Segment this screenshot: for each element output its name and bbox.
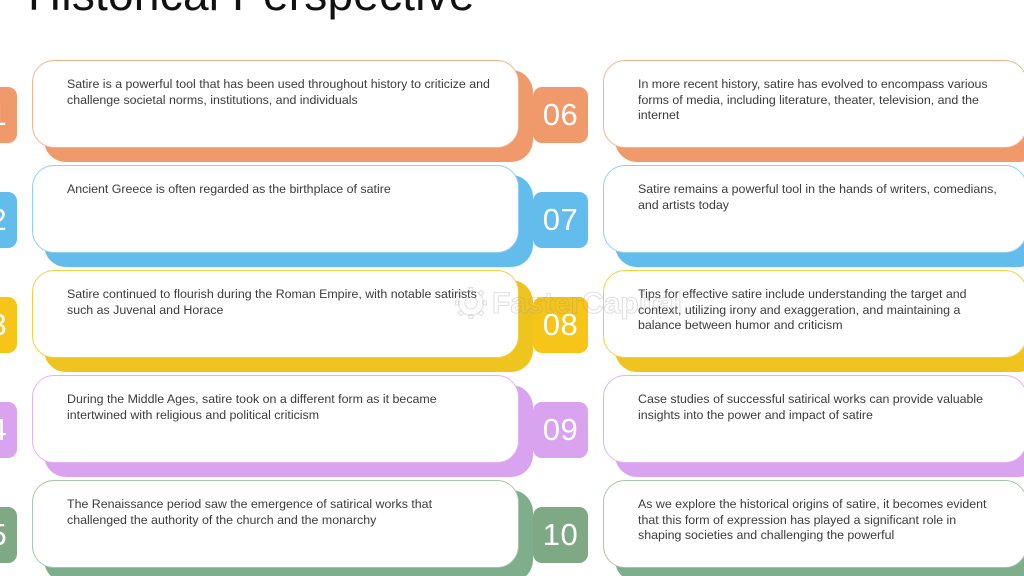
card-text: The Renaissance period saw the emergence…	[67, 497, 492, 528]
step-card[interactable]: In more recent history, satire has evolv…	[603, 60, 1024, 156]
step-card[interactable]: Satire continued to flourish during the …	[32, 270, 519, 366]
card-text: In more recent history, satire has evolv…	[638, 77, 1000, 124]
timeline-row: 05The Renaissance period saw the emergen…	[0, 480, 522, 576]
card-text: Satire remains a powerful tool in the ha…	[638, 182, 1000, 213]
step-number-badge[interactable]: 10	[533, 507, 588, 563]
step-card[interactable]: The Renaissance period saw the emergence…	[32, 480, 519, 576]
step-card[interactable]: Ancient Greece is often regarded as the …	[32, 165, 519, 261]
timeline-row: 04During the Middle Ages, satire took on…	[0, 375, 522, 480]
timeline-row: 01Satire is a powerful tool that has bee…	[0, 60, 522, 165]
card-body: Satire is a powerful tool that has been …	[32, 60, 519, 148]
step-card[interactable]: Satire remains a powerful tool in the ha…	[603, 165, 1024, 261]
card-text: Case studies of successful satirical wor…	[638, 392, 1000, 423]
card-body: In more recent history, satire has evolv…	[603, 60, 1024, 148]
card-text: Tips for effective satire include unders…	[638, 287, 1000, 334]
card-text: During the Middle Ages, satire took on a…	[67, 392, 492, 423]
page-title: Historical Perspective	[28, 0, 475, 22]
card-body: Satire continued to flourish during the …	[32, 270, 519, 358]
left-column: 01Satire is a powerful tool that has bee…	[0, 60, 522, 576]
card-body: As we explore the historical origins of …	[603, 480, 1024, 568]
card-text: Satire is a powerful tool that has been …	[67, 77, 492, 108]
card-body: Tips for effective satire include unders…	[603, 270, 1024, 358]
card-body: The Renaissance period saw the emergence…	[32, 480, 519, 568]
timeline-row: 03Satire continued to flourish during th…	[0, 270, 522, 375]
step-card[interactable]: Tips for effective satire include unders…	[603, 270, 1024, 366]
timeline-row: 02Ancient Greece is often regarded as th…	[0, 165, 522, 270]
step-number-badge[interactable]: 05	[0, 507, 17, 563]
step-number-badge[interactable]: 02	[0, 192, 17, 248]
card-body: Satire remains a powerful tool in the ha…	[603, 165, 1024, 253]
step-number-badge[interactable]: 03	[0, 297, 17, 353]
step-card[interactable]: During the Middle Ages, satire took on a…	[32, 375, 519, 471]
step-card[interactable]: Case studies of successful satirical wor…	[603, 375, 1024, 471]
card-body: Case studies of successful satirical wor…	[603, 375, 1024, 463]
timeline-row: 10As we explore the historical origins o…	[533, 480, 1024, 576]
step-number-badge[interactable]: 07	[533, 192, 588, 248]
step-number-badge[interactable]: 09	[533, 402, 588, 458]
step-card[interactable]: Satire is a powerful tool that has been …	[32, 60, 519, 156]
timeline-row: 07Satire remains a powerful tool in the …	[533, 165, 1024, 270]
step-number-badge[interactable]: 01	[0, 87, 17, 143]
card-body: Ancient Greece is often regarded as the …	[32, 165, 519, 253]
slide-canvas: Historical Perspective 01Satire is a pow…	[0, 0, 1024, 576]
step-card[interactable]: As we explore the historical origins of …	[603, 480, 1024, 576]
card-text: As we explore the historical origins of …	[638, 497, 1000, 544]
timeline-row: 08Tips for effective satire include unde…	[533, 270, 1024, 375]
card-body: During the Middle Ages, satire took on a…	[32, 375, 519, 463]
step-number-badge[interactable]: 04	[0, 402, 17, 458]
right-column: 06In more recent history, satire has evo…	[533, 60, 1024, 576]
timeline-row: 09Case studies of successful satirical w…	[533, 375, 1024, 480]
card-text: Satire continued to flourish during the …	[67, 287, 492, 318]
step-number-badge[interactable]: 06	[533, 87, 588, 143]
step-number-badge[interactable]: 08	[533, 297, 588, 353]
card-text: Ancient Greece is often regarded as the …	[67, 182, 492, 198]
timeline-row: 06In more recent history, satire has evo…	[533, 60, 1024, 165]
